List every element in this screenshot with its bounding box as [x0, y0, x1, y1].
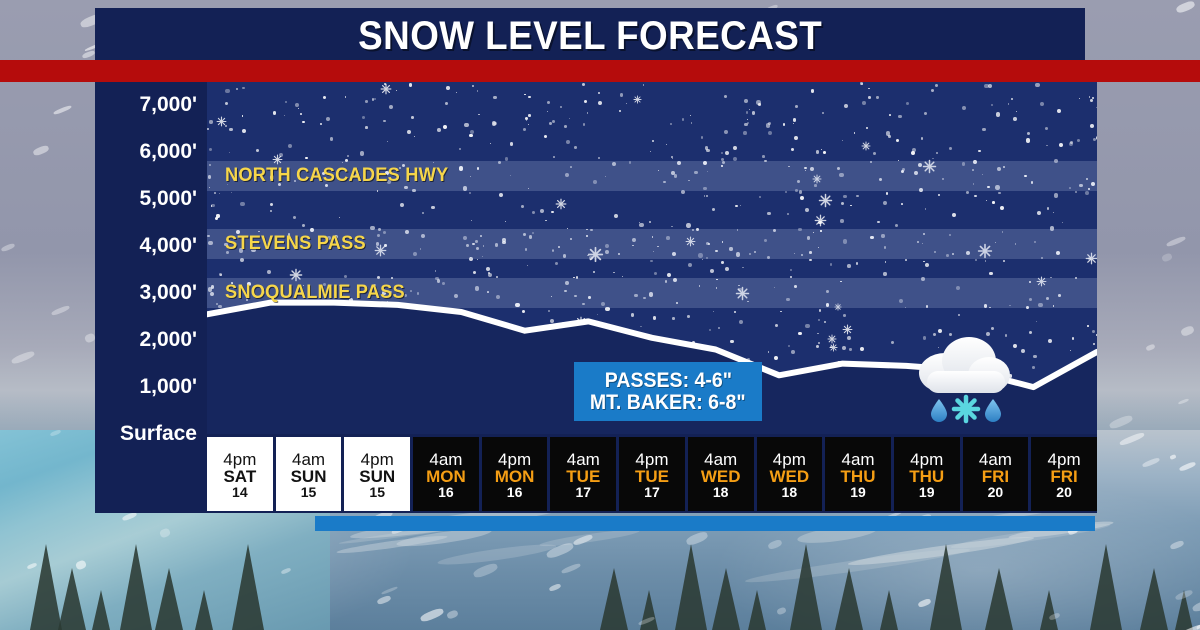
- timeline-time: 4am: [979, 451, 1012, 468]
- timeline-cell[interactable]: 4amTUE17: [550, 437, 616, 511]
- chart-plot-area: NORTH CASCADES HWYSTEVENS PASSSNOQUALMIE…: [207, 82, 1097, 434]
- timeline-day: TUE: [635, 468, 669, 485]
- y-axis-tick-2000: 2,000': [139, 328, 197, 352]
- timeline-date: 19: [919, 485, 935, 499]
- page-title: SNOW LEVEL FORECAST: [358, 14, 822, 59]
- timeline-cell[interactable]: 4pmTHU19: [894, 437, 960, 511]
- timeline-axis: 4pmSAT144amSUN154pmSUN154amMON164pmMON16…: [207, 437, 1097, 511]
- y-axis-tick-6000: 6,000': [139, 140, 197, 164]
- timeline-day: WED: [701, 468, 741, 485]
- timeline-cell[interactable]: 4pmTUE17: [619, 437, 685, 511]
- timeline-cell[interactable]: 4amFRI20: [963, 437, 1029, 511]
- timeline-day: THU: [909, 468, 944, 485]
- title-banner: SNOW LEVEL FORECAST: [95, 8, 1085, 64]
- cloud-shape: [919, 337, 1010, 393]
- snowfall-callout: PASSES: 4-6" MT. BAKER: 6-8": [574, 362, 762, 421]
- timeline-time: 4pm: [635, 451, 668, 468]
- timeline-day: SAT: [223, 468, 256, 485]
- timeline-cell[interactable]: 4amTHU19: [825, 437, 891, 511]
- timeline-time: 4pm: [223, 451, 256, 468]
- timeline-time: 4am: [567, 451, 600, 468]
- callout-line-passes: PASSES: 4-6": [604, 370, 731, 392]
- forecast-panel: 7,000'6,000'5,000'4,000'3,000'2,000'1,00…: [95, 82, 1097, 513]
- timeline-time: 4pm: [910, 451, 943, 468]
- timeline-cell[interactable]: 4pmSAT14: [207, 437, 273, 511]
- timeline-cell[interactable]: 4pmSUN15: [344, 437, 410, 511]
- timeline-day: FRI: [982, 468, 1009, 485]
- timeline-date: 15: [369, 485, 385, 499]
- timeline-date: 19: [850, 485, 866, 499]
- y-axis-tick-5000: 5,000': [139, 187, 197, 211]
- y-axis-tick-1000: 1,000': [139, 375, 197, 399]
- timeline-time: 4am: [841, 451, 874, 468]
- timeline-day: MON: [495, 468, 535, 485]
- timeline-cell[interactable]: 4pmFRI20: [1031, 437, 1097, 511]
- timeline-day: MON: [426, 468, 466, 485]
- bottom-accent-bar: [315, 516, 1095, 531]
- timeline-time: 4pm: [1048, 451, 1081, 468]
- timeline-time: 4pm: [773, 451, 806, 468]
- y-axis: 7,000'6,000'5,000'4,000'3,000'2,000'1,00…: [95, 82, 205, 434]
- timeline-time: 4am: [704, 451, 737, 468]
- y-axis-tick-0: Surface: [120, 422, 197, 446]
- y-axis-tick-7000: 7,000': [139, 93, 197, 117]
- timeline-date: 17: [575, 485, 591, 499]
- timeline-day: WED: [770, 468, 810, 485]
- timeline-date: 18: [782, 485, 798, 499]
- timeline-date: 15: [301, 485, 317, 499]
- snowflake-shape: [954, 397, 978, 421]
- timeline-date: 16: [438, 485, 454, 499]
- timeline-day: SUN: [291, 468, 327, 485]
- pass-label-snoqualmie-pass: SNOQUALMIE PASS: [225, 282, 405, 304]
- timeline-cell[interactable]: 4amMON16: [413, 437, 479, 511]
- timeline-cell[interactable]: 4pmMON16: [482, 437, 548, 511]
- timeline-day: THU: [841, 468, 876, 485]
- timeline-time: 4pm: [361, 451, 394, 468]
- raindrop-left: [931, 399, 947, 422]
- pass-label-north-cascades-hwy: NORTH CASCADES HWY: [225, 165, 448, 187]
- rain-snow-mix-icon: [907, 327, 1017, 427]
- timeline-date: 18: [713, 485, 729, 499]
- timeline-date: 20: [988, 485, 1004, 499]
- timeline-cell[interactable]: 4pmWED18: [757, 437, 823, 511]
- timeline-date: 20: [1056, 485, 1072, 499]
- timeline-cell[interactable]: 4amWED18: [688, 437, 754, 511]
- timeline-time: 4am: [429, 451, 462, 468]
- y-axis-tick-4000: 4,000': [139, 234, 197, 258]
- red-accent-bar: [0, 60, 1200, 82]
- timeline-date: 14: [232, 485, 248, 499]
- timeline-day: FRI: [1050, 468, 1077, 485]
- timeline-cell[interactable]: 4amSUN15: [276, 437, 342, 511]
- timeline-time: 4am: [292, 451, 325, 468]
- pass-label-stevens-pass: STEVENS PASS: [225, 233, 366, 255]
- timeline-date: 17: [644, 485, 660, 499]
- timeline-date: 16: [507, 485, 523, 499]
- timeline-time: 4pm: [498, 451, 531, 468]
- y-axis-tick-3000: 3,000': [139, 281, 197, 305]
- callout-line-baker: MT. BAKER: 6-8": [590, 392, 746, 414]
- timeline-day: TUE: [566, 468, 600, 485]
- timeline-day: SUN: [359, 468, 395, 485]
- raindrop-right: [985, 399, 1001, 422]
